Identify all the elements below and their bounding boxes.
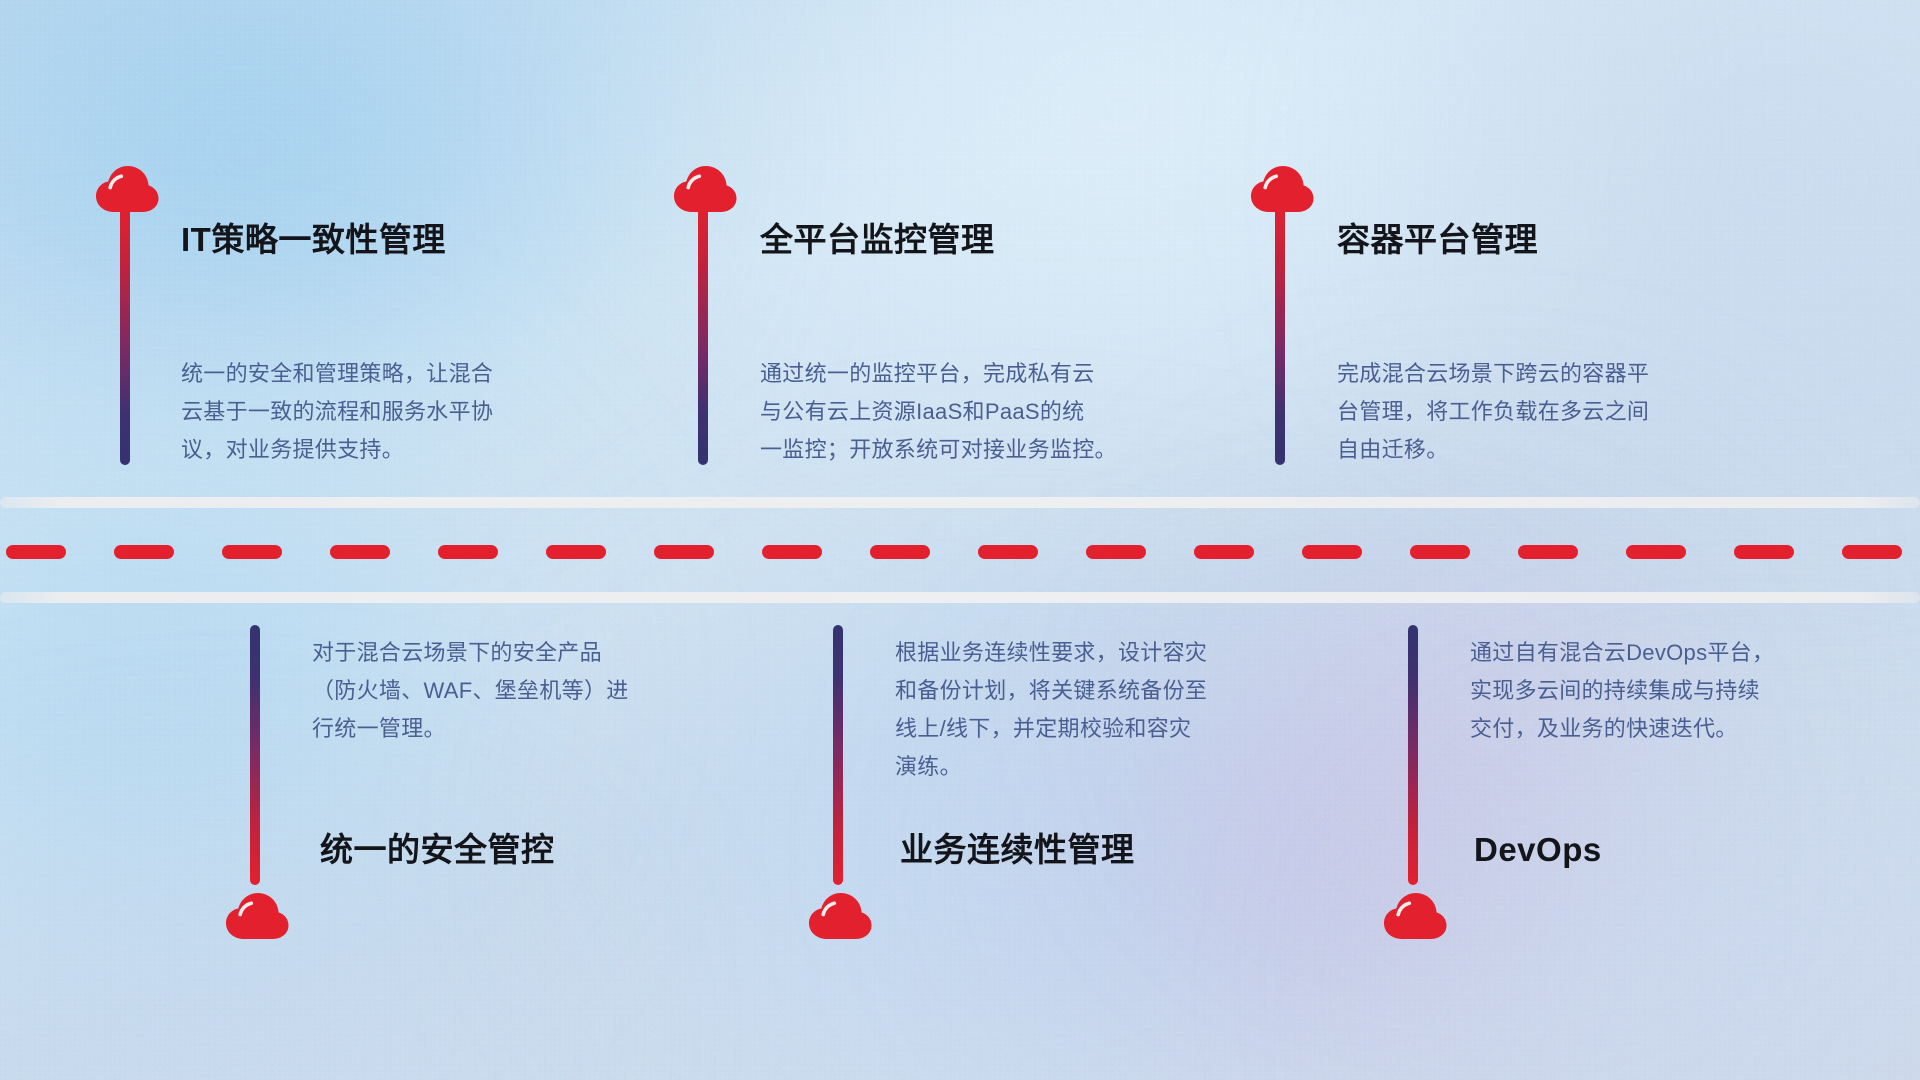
card-description-line: 根据业务连续性要求，设计容灾 [895,634,1315,672]
card-stem [120,205,130,465]
road-dash [654,545,714,559]
card-description-line: 线上/线下，并定期校验和容灾 [895,710,1315,748]
card-title: 统一的安全管控 [320,833,555,866]
card-description-line: 演练。 [895,748,1315,786]
road-dash [1626,545,1686,559]
cloud-icon [224,890,290,940]
road-dash [114,545,174,559]
card-description-line: 通过统一的监控平台，完成私有云 [760,355,1180,393]
card-title: 业务连续性管理 [900,833,1135,866]
card-description-line: 和备份计划，将关键系统备份至 [895,672,1315,710]
card-description-line: 通过自有混合云DevOps平台， [1470,634,1890,672]
road-dash [438,545,498,559]
card-description-line: 完成混合云场景下跨云的容器平 [1337,355,1757,393]
infographic-canvas: IT策略一致性管理 统一的安全和管理策略，让混合 云基于一致的流程和服务水平协 … [0,0,1920,1080]
card-description-line: 台管理，将工作负载在多云之间 [1337,393,1757,431]
road-dash [1734,545,1794,559]
card-description-line: 议，对业务提供支持。 [181,431,571,469]
card-title: IT策略一致性管理 [181,223,446,256]
card-stem [1275,205,1285,465]
card-description-line: 云基于一致的流程和服务水平协 [181,393,571,431]
cloud-icon [807,890,873,940]
card-description-line: 与公有云上资源IaaS和PaaS的统 [760,393,1180,431]
road-dash [330,545,390,559]
card-description-line: 对于混合云场景下的安全产品 [312,634,732,672]
card-title: DevOps [1474,833,1602,866]
card-description-line: 一监控；开放系统可对接业务监控。 [760,431,1180,469]
road-edge-line-bottom [0,592,1920,603]
road-dash [978,545,1038,559]
road-dash [870,545,930,559]
road-dash [546,545,606,559]
card-description-line: 统一的安全和管理策略，让混合 [181,355,571,393]
card-description-line: （防火墙、WAF、堡垒机等）进 [312,672,732,710]
card-description: 统一的安全和管理策略，让混合 云基于一致的流程和服务水平协 议，对业务提供支持。 [181,355,571,469]
card-description: 通过自有混合云DevOps平台， 实现多云间的持续集成与持续 交付，及业务的快速… [1470,634,1890,748]
card-description-line: 实现多云间的持续集成与持续 [1470,672,1890,710]
card-title: 容器平台管理 [1337,223,1538,256]
road-dash [1194,545,1254,559]
road-dash [1086,545,1146,559]
card-description-line: 自由迁移。 [1337,431,1757,469]
card-description: 对于混合云场景下的安全产品 （防火墙、WAF、堡垒机等）进 行统一管理。 [312,634,732,748]
card-title: 全平台监控管理 [760,223,995,256]
road-dash [6,545,66,559]
card-description-line: 行统一管理。 [312,710,732,748]
road-dash [762,545,822,559]
road-dash [222,545,282,559]
road-dash [1302,545,1362,559]
road-dash [1518,545,1578,559]
card-stem [833,625,843,885]
road-edge-line-top [0,497,1920,508]
card-description: 完成混合云场景下跨云的容器平 台管理，将工作负载在多云之间 自由迁移。 [1337,355,1757,469]
card-stem [250,625,260,885]
cloud-icon [1382,890,1448,940]
card-description: 根据业务连续性要求，设计容灾 和备份计划，将关键系统备份至 线上/线下，并定期校… [895,634,1315,786]
road-dash [1842,545,1902,559]
card-stem [698,205,708,465]
road-dash [1410,545,1470,559]
card-stem [1408,625,1418,885]
road-center-dashed-line [0,545,1920,559]
card-description: 通过统一的监控平台，完成私有云 与公有云上资源IaaS和PaaS的统 一监控；开… [760,355,1180,469]
card-description-line: 交付，及业务的快速迭代。 [1470,710,1890,748]
